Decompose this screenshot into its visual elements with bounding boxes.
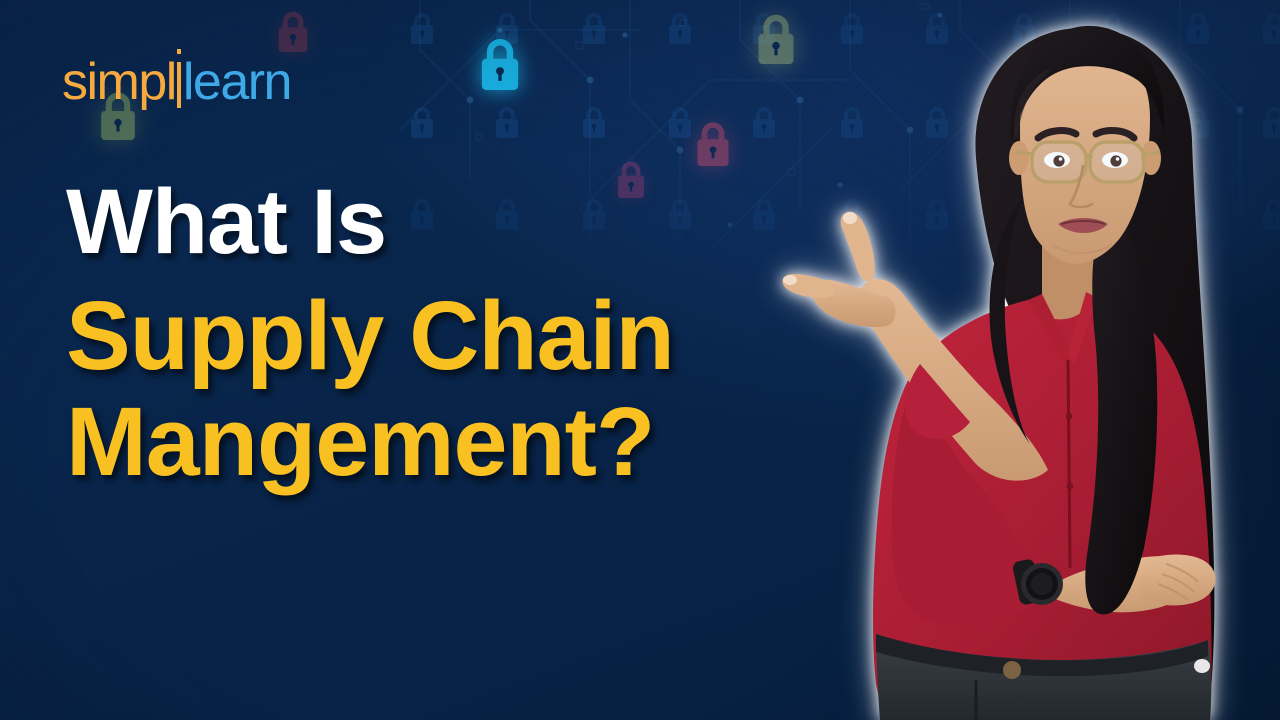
logo-text-learn: learn (183, 53, 291, 111)
title-line-3: Mangement? (66, 395, 866, 489)
title-block: What Is Supply Chain Mangement? (66, 178, 866, 489)
belt-loop-detail (1194, 659, 1210, 673)
presenter-illustration (780, 8, 1280, 720)
logo-i-bar-icon (177, 62, 181, 108)
ear-left (1009, 141, 1029, 175)
shirt-placket (1068, 360, 1070, 568)
trouser-button (1003, 661, 1021, 679)
fingernail-thumb (843, 212, 857, 224)
logo-text-simpl: simpl (62, 53, 176, 111)
video-thumbnail-slide: simpllearn What Is Supply Chain Mangemen… (0, 0, 1280, 720)
shirt-button (1066, 413, 1073, 420)
simplilearn-logo[interactable]: simpllearn (62, 56, 291, 108)
shirt-button (1067, 483, 1074, 490)
presenter-photo (780, 8, 1280, 720)
title-line-2: Supply Chain (66, 289, 866, 383)
fingernail-index (783, 275, 797, 285)
title-line-1: What Is (66, 178, 866, 267)
